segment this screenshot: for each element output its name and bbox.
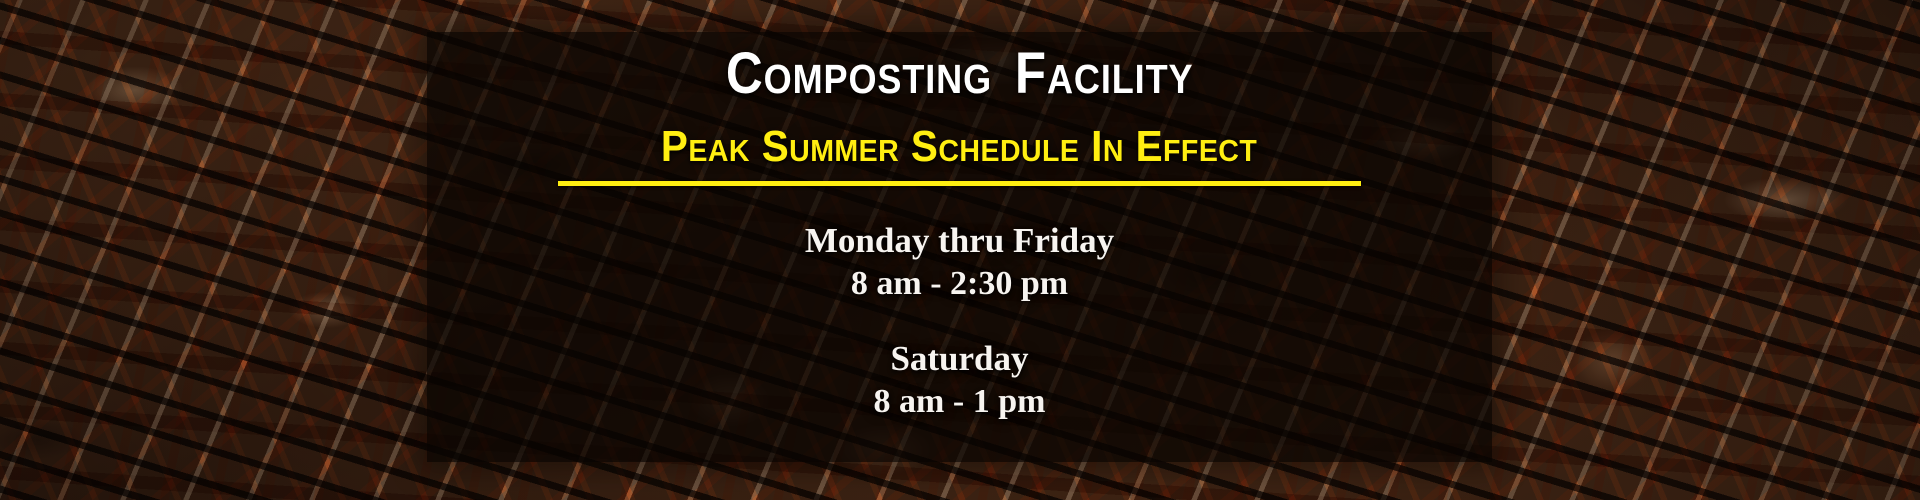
schedule-hours-label: 8 am - 2:30 pm [851, 263, 1068, 304]
page-title: CompostingFacility [726, 45, 1194, 103]
subtitle-underline-rule [558, 181, 1361, 186]
banner-content: CompostingFacility Peak Summer Schedule … [427, 32, 1492, 462]
composting-facility-banner: CompostingFacility Peak Summer Schedule … [0, 0, 1920, 500]
subtitle-group: Peak Summer Schedule In Effect [558, 125, 1361, 186]
schedule-entry-weekday: Monday thru Friday 8 am - 2:30 pm [805, 220, 1114, 304]
schedule-entry-saturday: Saturday 8 am - 1 pm [874, 338, 1046, 422]
subtitle-text: Peak Summer Schedule In Effect [661, 125, 1257, 169]
schedule-days-label: Saturday [890, 338, 1028, 381]
schedule-days-label: Monday thru Friday [805, 220, 1114, 263]
page-title-word-composting: Composting [726, 41, 992, 106]
schedule-list: Monday thru Friday 8 am - 2:30 pm Saturd… [805, 220, 1114, 422]
page-title-word-facility: Facility [1015, 41, 1194, 106]
schedule-hours-label: 8 am - 1 pm [874, 381, 1046, 422]
